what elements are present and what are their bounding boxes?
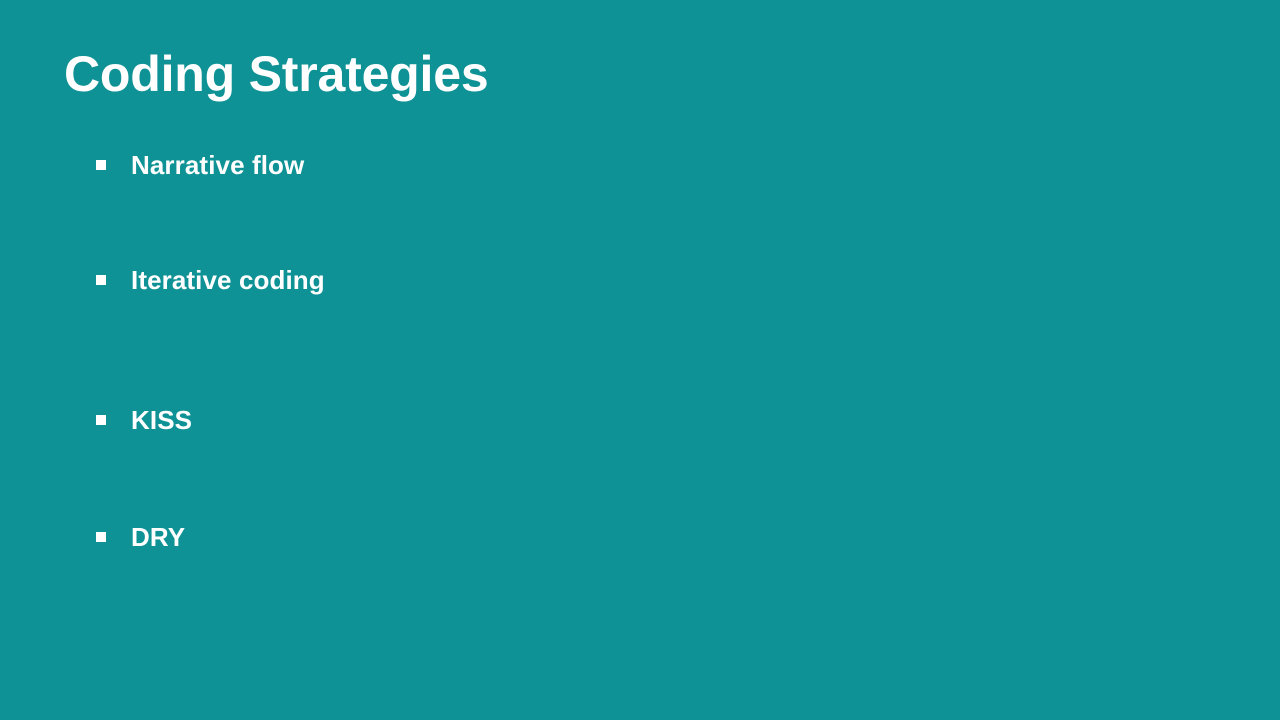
bullet-item-label: KISS xyxy=(131,403,192,437)
list-item: Iterative coding xyxy=(96,263,325,297)
page-title: Coding Strategies xyxy=(64,47,488,101)
list-item: Narrative flow xyxy=(96,148,304,182)
presentation-slide: Coding Strategies Narrative flow Iterati… xyxy=(0,0,1280,720)
filled-square-bullet-icon xyxy=(96,160,106,170)
list-item: DRY xyxy=(96,520,185,554)
list-item: KISS xyxy=(96,403,192,437)
filled-square-bullet-icon xyxy=(96,532,106,542)
bullet-item-label: Narrative flow xyxy=(131,148,304,182)
bullet-item-label: Iterative coding xyxy=(131,263,325,297)
filled-square-bullet-icon xyxy=(96,415,106,425)
filled-square-bullet-icon xyxy=(96,275,106,285)
bullet-item-label: DRY xyxy=(131,520,185,554)
